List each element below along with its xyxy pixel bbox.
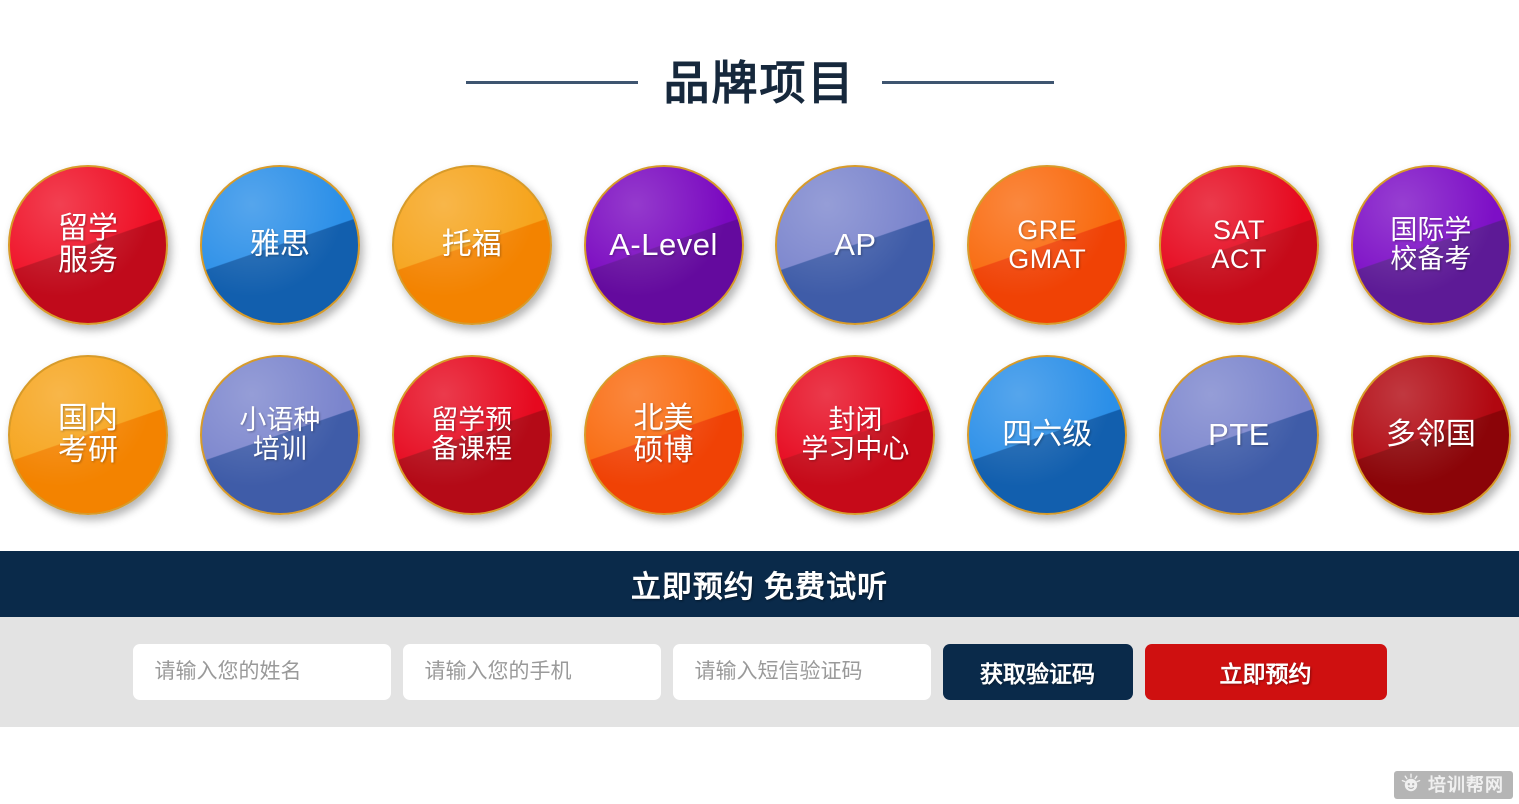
program-bubble[interactable]: PTE (1159, 355, 1319, 515)
sun-face-icon (1401, 773, 1421, 798)
name-input[interactable] (133, 644, 391, 700)
program-label: 北美 硕博 (628, 403, 700, 467)
signup-form: 获取验证码 立即预约 (0, 617, 1519, 727)
program-bubble[interactable]: GRE GMAT (967, 165, 1127, 325)
program-label: 多邻国 (1380, 419, 1482, 451)
program-circle-tuofu[interactable]: 托福 (392, 165, 552, 325)
program-label: GRE GMAT (1002, 216, 1092, 273)
program-circle-beimei-shuobo[interactable]: 北美 硕博 (584, 355, 744, 515)
program-label: 托福 (436, 229, 508, 261)
program-bubble[interactable]: 多邻国 (1351, 355, 1511, 515)
program-label: SAT ACT (1205, 216, 1273, 273)
program-label: 四六级 (996, 419, 1098, 451)
program-circle-guoji-xuexiao-beikao[interactable]: 国际学 校备考 (1351, 165, 1511, 325)
program-label: AP (828, 229, 882, 262)
program-bubble[interactable]: 北美 硕博 (584, 355, 744, 515)
program-bubble[interactable]: SAT ACT (1159, 165, 1319, 325)
program-circle-guonei-kaoyan[interactable]: 国内 考研 (8, 355, 168, 515)
site-watermark: 培训帮网 (1394, 771, 1513, 799)
program-bubble[interactable]: 雅思 (200, 165, 360, 325)
phone-input[interactable] (403, 644, 661, 700)
program-grid: 留学 服务雅思托福A-LevelAPGRE GMATSAT ACT国际学 校备考… (0, 165, 1519, 515)
program-circle-fengbi-xuexi-zhongxin[interactable]: 封闭 学习中心 (775, 355, 935, 515)
program-bubble[interactable]: 封闭 学习中心 (775, 355, 935, 515)
title-rule-right (882, 81, 1054, 84)
program-label: 封闭 学习中心 (795, 406, 915, 463)
program-circle-yasi[interactable]: 雅思 (200, 165, 360, 325)
program-label: 国内 考研 (52, 403, 124, 467)
sms-code-input[interactable] (673, 644, 931, 700)
program-label: 国际学 校备考 (1384, 216, 1477, 273)
program-label: PTE (1202, 419, 1276, 452)
cta-banner-text: 立即预约 免费试听 (631, 562, 888, 606)
program-circle-gre-gmat[interactable]: GRE GMAT (967, 165, 1127, 325)
submit-booking-button[interactable]: 立即预约 (1145, 644, 1387, 700)
program-bubble[interactable]: 国际学 校备考 (1351, 165, 1511, 325)
program-bubble[interactable]: 小语种 培训 (200, 355, 360, 515)
program-circle-xiaoyuzhong-peixun[interactable]: 小语种 培训 (200, 355, 360, 515)
program-row-1: 留学 服务雅思托福A-LevelAPGRE GMATSAT ACT国际学 校备考 (0, 165, 1519, 325)
page-title: 品牌项目 (0, 0, 1519, 165)
cta-banner: 立即预约 免费试听 (0, 551, 1519, 617)
page-title-text: 品牌项目 (664, 60, 856, 106)
program-bubble[interactable]: 留学预 备课程 (392, 355, 552, 515)
program-label: 小语种 培训 (233, 406, 326, 463)
program-circle-pte[interactable]: PTE (1159, 355, 1319, 515)
program-row-2: 国内 考研小语种 培训留学预 备课程北美 硕博封闭 学习中心四六级PTE多邻国 (0, 355, 1519, 515)
program-bubble[interactable]: 留学 服务 (8, 165, 168, 325)
program-circle-si-liu-ji[interactable]: 四六级 (967, 355, 1127, 515)
program-bubble[interactable]: AP (775, 165, 935, 325)
get-code-button[interactable]: 获取验证码 (943, 644, 1133, 700)
program-circle-liuxue-fuwu[interactable]: 留学 服务 (8, 165, 168, 325)
title-rule-left (466, 81, 638, 84)
program-circle-sat-act[interactable]: SAT ACT (1159, 165, 1319, 325)
program-bubble[interactable]: 国内 考研 (8, 355, 168, 515)
program-label: 留学 服务 (52, 213, 124, 277)
watermark-label: 培训帮网 (1428, 776, 1504, 794)
program-circle-duolingguo[interactable]: 多邻国 (1351, 355, 1511, 515)
program-bubble[interactable]: 托福 (392, 165, 552, 325)
program-bubble[interactable]: A-Level (584, 165, 744, 325)
program-circle-a-level[interactable]: A-Level (584, 165, 744, 325)
program-circle-liuxue-yubei-kecheng[interactable]: 留学预 备课程 (392, 355, 552, 515)
program-label: A-Level (603, 229, 724, 262)
program-bubble[interactable]: 四六级 (967, 355, 1127, 515)
program-label: 留学预 备课程 (425, 406, 518, 463)
program-label: 雅思 (244, 229, 316, 261)
program-circle-ap[interactable]: AP (775, 165, 935, 325)
